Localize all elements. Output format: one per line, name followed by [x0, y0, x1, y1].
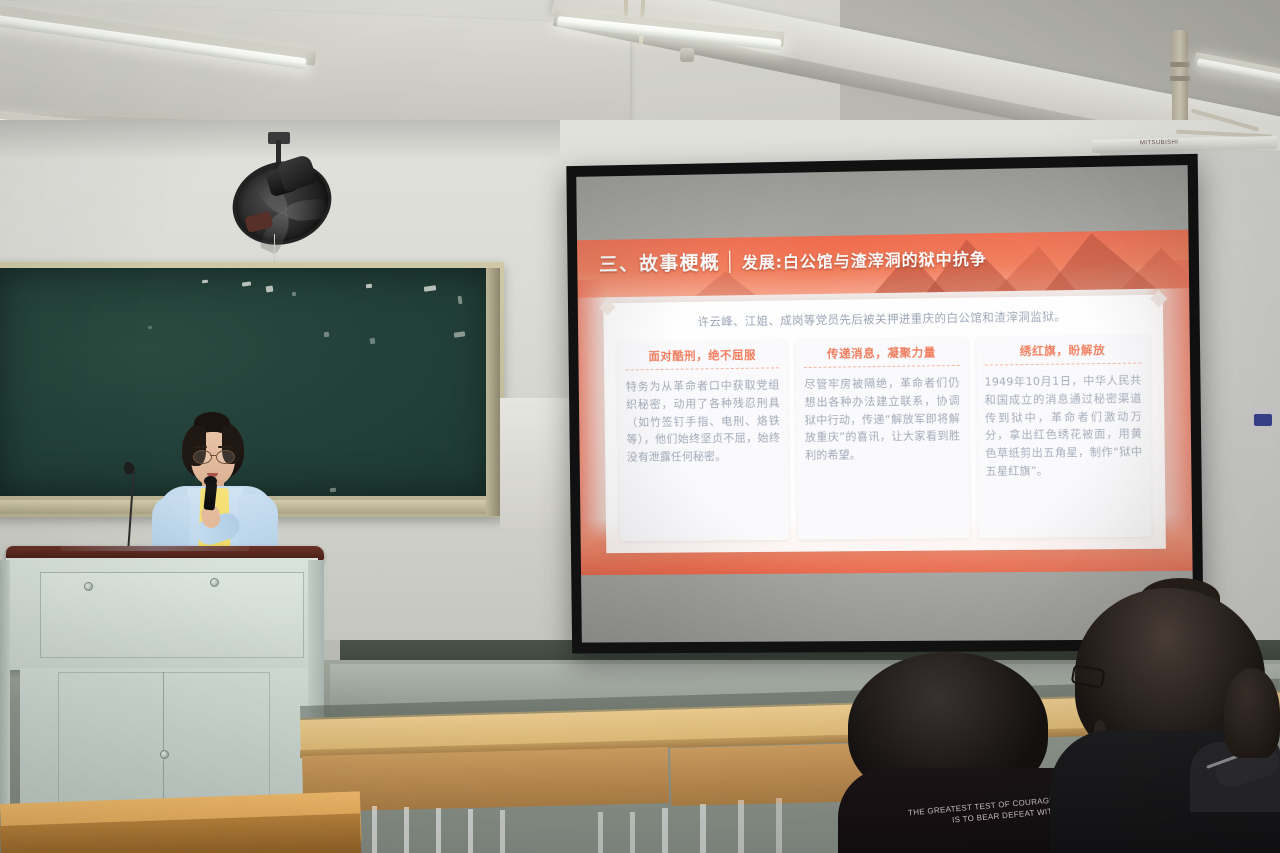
column-heading: 传递消息，凝聚力量: [827, 344, 936, 362]
pipe-ring: [1170, 76, 1190, 81]
projection-surface: 三、故事梗概│发展:白公馆与渣滓洞的狱中抗争 许云峰、江姐、成岗等党员先后被关押…: [576, 165, 1193, 642]
slide-column: 面对酷刑，绝不屈服 特务为从革命者口中获取党组织秘密，动用了各种残忍刑具（如竹签…: [618, 340, 790, 541]
wall-fixture: [1254, 414, 1272, 426]
lectern-lock[interactable]: [84, 582, 93, 591]
column-heading: 绣红旗，盼解放: [1020, 342, 1106, 359]
lectern-lock[interactable]: [210, 578, 219, 587]
microphone-head: [204, 476, 217, 486]
wall-fan: [228, 140, 348, 250]
column-body: 1949年10月1日，中华人民共和国成立的消息通过秘密渠道传到狱中，革命者们激动…: [984, 372, 1142, 481]
slide-letterbox-top: [576, 165, 1188, 240]
column-divider: [984, 363, 1141, 366]
slide-title-separator: │: [724, 251, 737, 273]
blackboard-right-edge: [486, 268, 500, 516]
glasses-bridge: [210, 455, 216, 456]
wall-panel: [500, 398, 570, 528]
column-divider: [626, 367, 780, 370]
wall-fixture-bracket: [1250, 408, 1276, 414]
student-head: [1224, 668, 1280, 758]
slide-columns: 面对酷刑，绝不屈服 特务为从革命者口中获取党组织秘密，动用了各种残忍刑具（如竹签…: [618, 335, 1152, 541]
presenter-glasses: [193, 450, 212, 464]
cabinet-lock[interactable]: [160, 750, 169, 759]
classroom-photo: MITSUBISHI 三、故事梗概│发展:白公馆: [0, 0, 1280, 853]
pipe-ring: [1170, 62, 1190, 67]
column-body: 特务为从革命者口中获取党组织秘密，动用了各种残忍刑具（如竹签钉手指、电刑、烙铁等…: [626, 376, 781, 466]
slide-column: 传递消息，凝聚力量 尽管牢房被隔绝，革命者们仍想出各种办法建立联系，协调狱中行动…: [796, 338, 970, 540]
lectern-panel-inset: [40, 572, 304, 658]
slide-title-sub: 发展:白公馆与渣滓洞的狱中抗争: [742, 249, 987, 272]
projector-screen[interactable]: 三、故事梗概│发展:白公馆与渣滓洞的狱中抗争 许云峰、江姐、成岗等党员先后被关押…: [566, 154, 1203, 654]
lectern-top-highlight: [60, 546, 250, 551]
column-divider: [804, 365, 959, 368]
slide-content-card: 许云峰、江姐、成岗等党员先后被关押进重庆的白公馆和渣滓洞监狱。 面对酷刑，绝不屈…: [603, 295, 1166, 554]
lectern-door-seam: [163, 672, 164, 818]
lectern-left-edge: [0, 560, 10, 810]
column-heading: 面对酷刑，绝不屈服: [648, 347, 756, 364]
slide-intro-text: 许云峰、江姐、成岗等党员先后被关押进重庆的白公馆和渣滓洞监狱。: [603, 307, 1163, 331]
light-endcap: [680, 48, 694, 62]
slide-title-main: 三、故事梗概: [599, 252, 721, 276]
presenter-glasses: [216, 450, 235, 464]
slide-column: 绣红旗，盼解放 1949年10月1日，中华人民共和国成立的消息通过秘密渠道传到狱…: [976, 335, 1151, 538]
mitsubishi-logo: MITSUBISHI: [1140, 140, 1178, 147]
slide: 三、故事梗概│发展:白公馆与渣滓洞的狱中抗争 许云峰、江姐、成岗等党员先后被关押…: [577, 230, 1193, 576]
column-body: 尽管牢房被隔绝，革命者们仍想出各种办法建立联系，协调狱中行动，传递“解放军即将解…: [804, 374, 960, 465]
